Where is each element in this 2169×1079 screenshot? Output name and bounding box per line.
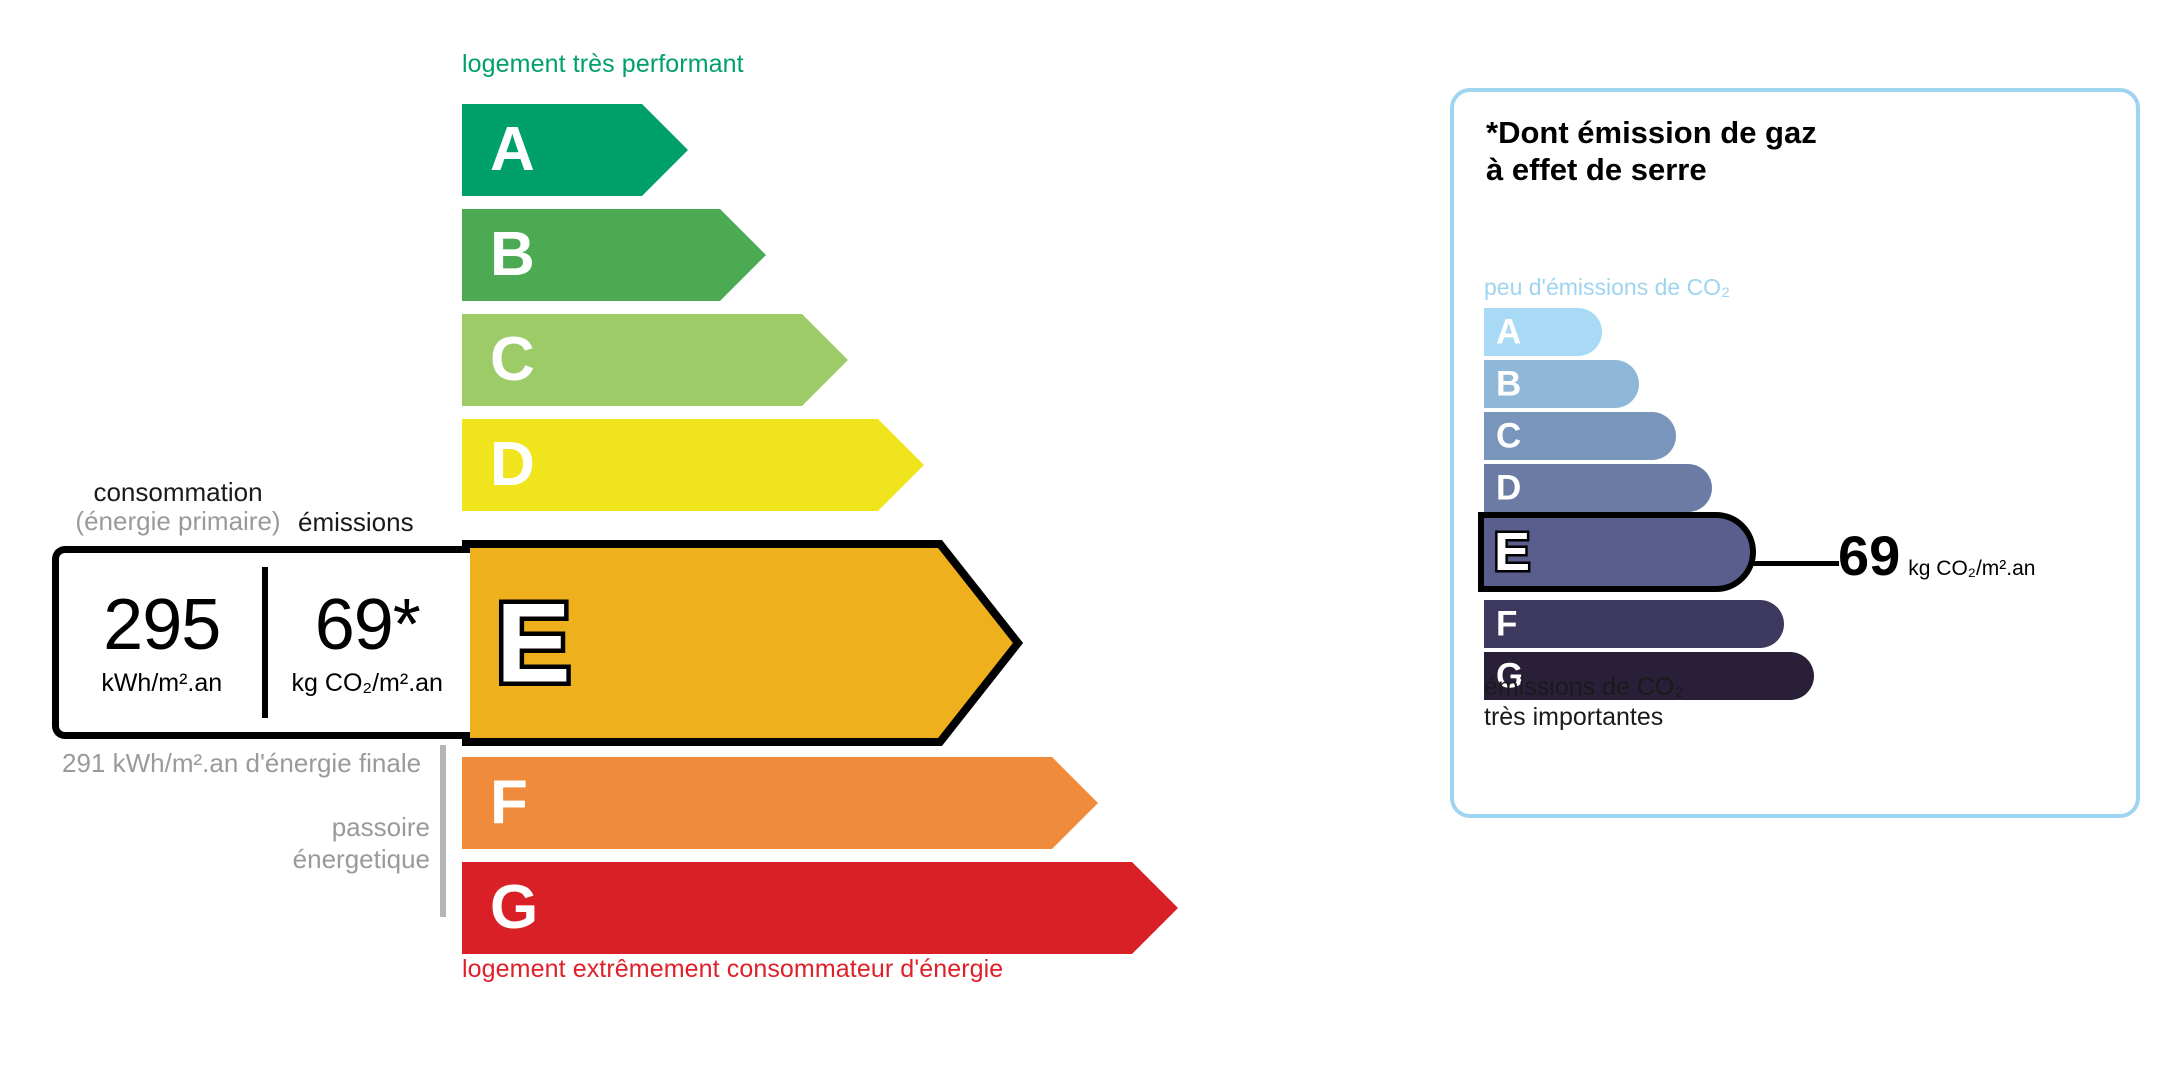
energy-arrow-D: D	[462, 419, 924, 511]
energy-arrow-G-letter: G	[490, 877, 538, 939]
co2-panel: *Dont émission de gaz à effet de serre p…	[1450, 88, 2140, 818]
dpe-energy-label: logement très performant A B C	[0, 0, 2169, 1079]
co2-panel-title: *Dont émission de gaz à effet de serre	[1486, 114, 1817, 188]
co2-callout-leader-line	[1753, 561, 1839, 566]
energy-arrow-A: A	[462, 104, 688, 196]
energy-arrow-E-letter: E	[496, 581, 571, 706]
energy-arrow-C: C	[462, 314, 848, 406]
energy-arrow-A-tip	[642, 104, 688, 196]
co2-bar-F: F	[1484, 600, 1784, 648]
energy-class-row-B: B	[462, 209, 766, 301]
co2-bar-A-letter: A	[1496, 315, 1521, 350]
co2-callout-unit: kg CO₂/m².an	[1908, 557, 2035, 581]
energy-arrow-D-letter: D	[490, 434, 535, 496]
emissions-label: émissions	[298, 508, 414, 537]
primary-energy-value-cell: 295 kWh/m².an	[59, 589, 265, 696]
co2-bar-A: A	[1484, 308, 1602, 356]
co2-bar-E-letter: E	[1494, 525, 1530, 579]
energy-arrow-G: G	[462, 862, 1178, 954]
co2-class-row-E-selected: E	[1478, 512, 1756, 592]
energy-arrow-F-body	[462, 757, 1052, 849]
energy-class-row-G: G	[462, 862, 1178, 954]
energy-arrow-G-body	[462, 862, 1132, 954]
co2-bar-E: E	[1478, 512, 1756, 592]
co2-class-row-D: D	[1484, 464, 1712, 512]
consommation-label: consommation (énergie primaire)	[68, 478, 288, 536]
emission-unit: kg CO₂/m².an	[265, 671, 471, 696]
final-energy-note: 291 kWh/m².an d'énergie finale	[62, 748, 421, 780]
co2-class-row-A: A	[1484, 308, 1602, 356]
co2-bar-B-letter: B	[1496, 367, 1521, 402]
energy-arrow-C-letter: C	[490, 329, 535, 391]
co2-top-caption: peu d'émissions de CO₂	[1484, 274, 1730, 301]
energy-class-row-A: A	[462, 104, 688, 196]
energy-arrow-C-tip	[802, 314, 848, 406]
energy-class-row-C: C	[462, 314, 848, 406]
co2-class-row-F: F	[1484, 600, 1784, 648]
value-box: 295 kWh/m².an 69* kg CO₂/m².an	[52, 546, 470, 739]
co2-class-row-B: B	[1484, 360, 1639, 408]
energy-arrow-D-tip	[878, 419, 924, 511]
passoire-bracket	[440, 745, 446, 917]
co2-bar-C: C	[1484, 412, 1676, 460]
energy-arrow-F-tip	[1052, 757, 1098, 849]
co2-bar-B: B	[1484, 360, 1639, 408]
co2-bar-C-letter: C	[1496, 419, 1521, 454]
energy-arrow-E: E	[462, 540, 1024, 746]
passoire-energetique-note: passoire énergetique	[220, 812, 430, 875]
energy-arrow-F-letter: F	[490, 772, 528, 834]
co2-bottom-caption: émissions de CO₂ très importantes	[1484, 672, 1684, 732]
co2-class-row-C: C	[1484, 412, 1676, 460]
energy-arrow-B-tip	[720, 209, 766, 301]
energy-arrow-G-tip	[1132, 862, 1178, 954]
primary-energy-value: 295	[59, 589, 265, 661]
emission-value: 69*	[265, 589, 471, 661]
primary-energy-unit: kWh/m².an	[59, 671, 265, 696]
co2-bar-D: D	[1484, 464, 1712, 512]
energy-class-row-D: D	[462, 419, 924, 511]
energy-arrow-B: B	[462, 209, 766, 301]
energy-class-row-E-selected: E	[462, 540, 1024, 746]
co2-callout: 69 kg CO₂/m².an	[1838, 528, 2035, 584]
energy-arrow-A-letter: A	[490, 119, 535, 181]
energy-arrow-B-letter: B	[490, 224, 535, 286]
energy-top-caption: logement très performant	[462, 50, 744, 79]
emission-value-cell: 69* kg CO₂/m².an	[265, 589, 471, 696]
co2-bar-D-letter: D	[1496, 471, 1521, 506]
energy-arrow-A-body	[462, 104, 642, 196]
consommation-label-sub: (énergie primaire)	[68, 507, 288, 536]
co2-bar-F-letter: F	[1496, 607, 1517, 642]
energy-arrow-F: F	[462, 757, 1098, 849]
energy-class-row-F: F	[462, 757, 1098, 849]
co2-callout-value: 69	[1838, 528, 1900, 584]
energy-scale-panel: logement très performant A B C	[0, 0, 1300, 1079]
energy-bottom-caption: logement extrêmement consommateur d'éner…	[462, 955, 1003, 984]
consommation-label-main: consommation	[93, 477, 262, 507]
